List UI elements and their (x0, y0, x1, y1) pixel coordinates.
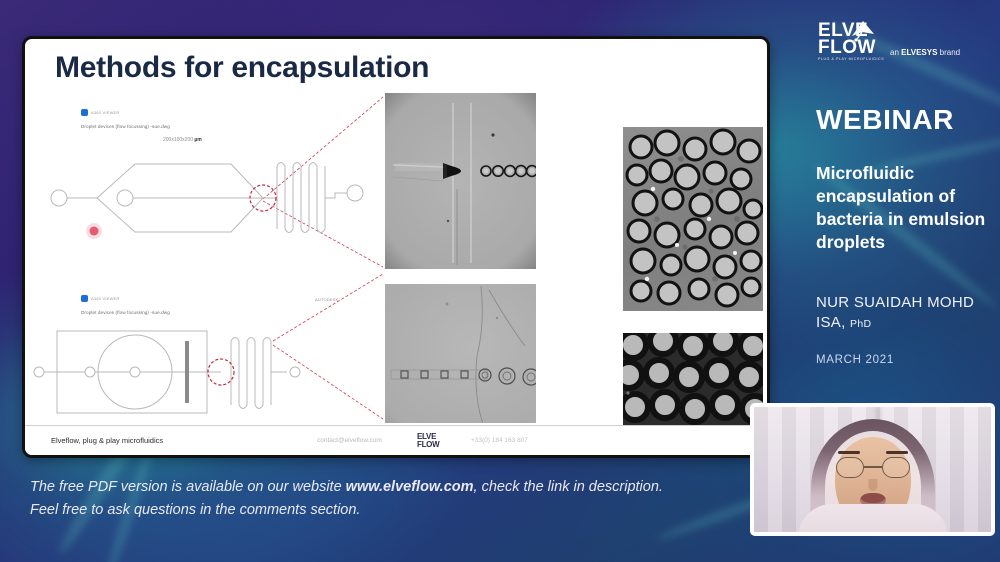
presenter-glasses (836, 457, 910, 479)
presenter-eyebrow-left (838, 451, 860, 454)
presentation-slide: Methods for encapsulation A360 VIEWER Dr… (22, 36, 770, 458)
presenter-nose (868, 479, 877, 491)
a360-viewer-label: A360 VIEWER (91, 110, 119, 115)
a360-viewer-bar-top: A360 VIEWER (81, 109, 119, 116)
slide-footer: Elveflow, plug & play microfluidics cont… (25, 425, 767, 455)
a360-logo-icon (81, 295, 88, 302)
bottom-note-line1: The free PDF version is available on our… (30, 476, 670, 499)
webinar-date: MARCH 2021 (816, 354, 894, 366)
bottom-note-line1-suffix: , check the link in description. (474, 479, 663, 495)
presenter-shoulders (798, 504, 948, 536)
cad-top-drawing (25, 141, 385, 259)
speaker-fullname: NUR SUAIDAH MOHD ISA, (816, 294, 974, 331)
photo-droplet-generation-junction (383, 91, 538, 271)
glasses-lens-right (882, 457, 910, 478)
cad-bottom-drawing (25, 319, 385, 437)
speaker-degree: PhD (850, 318, 871, 330)
presenter-webcam[interactable] (750, 403, 995, 536)
webinar-label: WEBINAR (816, 104, 954, 136)
bottom-note-line1-prefix: The free PDF version is available on our… (30, 479, 346, 495)
footer-email: contact@elveflow.com (317, 437, 382, 444)
glasses-lens-left (836, 457, 864, 478)
bottom-note-line2: Feel free to ask questions in the commen… (30, 499, 670, 522)
glasses-bridge (864, 466, 882, 468)
brand-prefix: an (890, 48, 901, 57)
photo-packed-droplets (623, 333, 763, 429)
photo-emulsion-droplets (623, 127, 763, 311)
droplet-population (623, 127, 763, 311)
elvesys-brand-line: an ELVESYS brand (890, 48, 960, 57)
a360-viewer-bar-bottom: A360 VIEWER (81, 295, 119, 302)
slide-title: Methods for encapsulation (55, 51, 429, 85)
cad-panel-top: A360 VIEWER Droplet devices (flow focuss… (25, 109, 385, 259)
packed-droplet-array (623, 333, 763, 429)
brand-suffix: brand (937, 48, 960, 57)
a360-viewer-label: A360 VIEWER (91, 296, 119, 301)
cad-bottom-header: Droplet devices (flow focussing) -sue.dw… (81, 310, 170, 315)
footer-elveflow-logo: ELVE FLOW (417, 433, 439, 448)
kite-surfer-icon (850, 20, 876, 42)
presenter-eyebrow-right (886, 451, 908, 454)
elveflow-tagline: PLUG & PLAY MICROFLUIDICS (818, 57, 884, 61)
photo-droplet-train (383, 282, 538, 425)
cad-panel-bottom: A360 VIEWER AUTODESK Droplet devices (fl… (25, 291, 385, 441)
footer-tagline: Elveflow, plug & play microfluidics (51, 436, 163, 445)
elveflow-website-link[interactable]: www.elveflow.com (346, 479, 474, 495)
bottom-note: The free PDF version is available on our… (30, 476, 670, 522)
footer-logo-line2: FLOW (417, 440, 439, 449)
webinar-subtitle: Microfluidic encapsulation of bacteria i… (816, 162, 996, 254)
a360-logo-icon (81, 109, 88, 116)
autodesk-label: AUTODESK (315, 297, 339, 302)
cad-top-header: Droplet devices (flow focussing) -sue.dw… (81, 124, 170, 129)
speaker-name: NUR SUAIDAH MOHD ISA, PhD (816, 293, 1000, 334)
footer-phone: +33(0) 184 163 807 (471, 437, 528, 444)
brand-name: ELVESYS (901, 48, 937, 57)
